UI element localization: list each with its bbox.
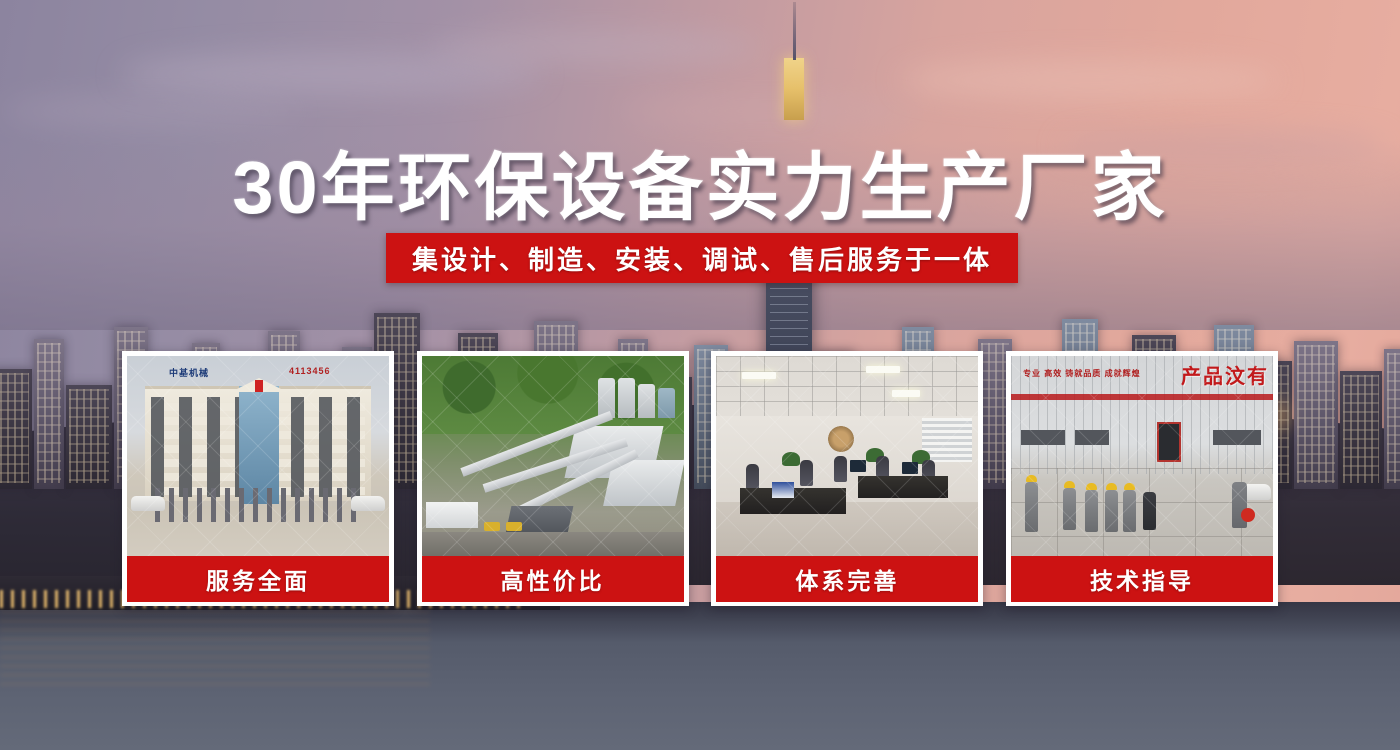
feature-card[interactable]: 体系完善 (711, 351, 983, 606)
ceiling-light (892, 390, 920, 397)
hard-hat-icon (1106, 483, 1117, 490)
ceiling-light (742, 372, 776, 379)
feature-card[interactable]: 专业 高效 铸就品质 成就辉煌 产品汶有 技术指导 (1006, 351, 1278, 606)
office-worker (834, 456, 847, 482)
card-photo-workers: 专业 高效 铸就品质 成就辉煌 产品汶有 (1011, 356, 1273, 556)
flag-icon (255, 380, 263, 392)
worker (1063, 488, 1076, 530)
building (1340, 371, 1382, 489)
monitor (850, 460, 866, 472)
storage-silo (658, 388, 675, 418)
staff-lineup (155, 488, 361, 522)
hard-hat-icon (1064, 481, 1075, 488)
tower-crown-light (784, 58, 804, 120)
card-caption-text: 技术指导 (1090, 562, 1194, 596)
card-caption-text: 高性价比 (501, 562, 605, 596)
storage-silo (638, 384, 655, 418)
storage-silo (618, 378, 635, 418)
ceiling-light (866, 366, 900, 373)
building (1384, 349, 1400, 489)
worker (1085, 490, 1098, 532)
excavator (506, 522, 522, 531)
factory-slogan-large: 产品汶有 (1181, 360, 1269, 389)
plant-road (422, 532, 684, 556)
card-photo-headquarters: 中基机械 4113456 (127, 356, 389, 556)
river (0, 602, 1400, 750)
card-caption-bar: 技术指导 (1011, 556, 1273, 602)
facade-red-stripe (1011, 394, 1273, 400)
subtitle-banner: 集设计、制造、安装、调试、售后服务于一体 (386, 233, 1018, 283)
glass-atrium (239, 386, 279, 504)
building (0, 369, 32, 489)
feature-card[interactable]: 高性价比 (417, 351, 689, 606)
red-helmet-icon (1241, 508, 1255, 522)
card-caption-bar: 服务全面 (127, 556, 389, 602)
worker (1025, 482, 1038, 532)
hard-hat-icon (1086, 483, 1097, 490)
building-company-sign: 中基机械 (169, 366, 209, 379)
cloud (430, 30, 760, 64)
subtitle-text: 集设计、制造、安装、调试、售后服务于一体 (412, 240, 992, 277)
building (34, 339, 64, 489)
factory-window (1021, 430, 1065, 445)
desk-box (772, 482, 794, 498)
office-worker (800, 460, 813, 486)
factory-door (1157, 422, 1181, 462)
factory-slogan-small: 专业 高效 铸就品质 成就辉煌 (1023, 368, 1141, 379)
card-caption-bar: 体系完善 (716, 556, 978, 602)
monitor (902, 462, 918, 474)
factory-window (1075, 430, 1109, 445)
worker (1105, 490, 1118, 532)
worker (1123, 490, 1136, 532)
parked-car (131, 496, 165, 511)
feature-card[interactable]: 中基机械 4113456 服务全面 (122, 351, 394, 606)
card-caption-text: 体系完善 (795, 562, 899, 596)
cloud (0, 96, 300, 126)
office-worker (746, 464, 759, 490)
card-caption-bar: 高性价比 (422, 556, 684, 602)
worker (1143, 492, 1156, 530)
card-photo-plant-aerial (422, 356, 684, 556)
promo-banner: 30年环保设备实力生产厂家 集设计、制造、安装、调试、售后服务于一体 中基机械 … (0, 0, 1400, 750)
building (1294, 341, 1338, 489)
plant-shed (426, 502, 478, 528)
river-reflection (0, 602, 430, 692)
hard-hat-icon (1026, 475, 1037, 482)
headline: 30年环保设备实力生产厂家 (0, 128, 1400, 235)
office-desk (858, 476, 948, 498)
parked-car (351, 496, 385, 511)
potted-plant (782, 452, 800, 466)
tower-spire (793, 2, 796, 60)
feature-card-row: 中基机械 4113456 服务全面 (122, 351, 1278, 606)
hard-hat-icon (1124, 483, 1135, 490)
factory-window (1213, 430, 1261, 445)
building (66, 385, 112, 489)
building-phone-sign: 4113456 (289, 366, 331, 376)
office-ceiling (716, 356, 978, 422)
cloud (900, 60, 1280, 100)
excavator (484, 522, 500, 531)
cloud (620, 96, 920, 126)
card-caption-text: 服务全面 (206, 562, 310, 596)
card-photo-office (716, 356, 978, 556)
